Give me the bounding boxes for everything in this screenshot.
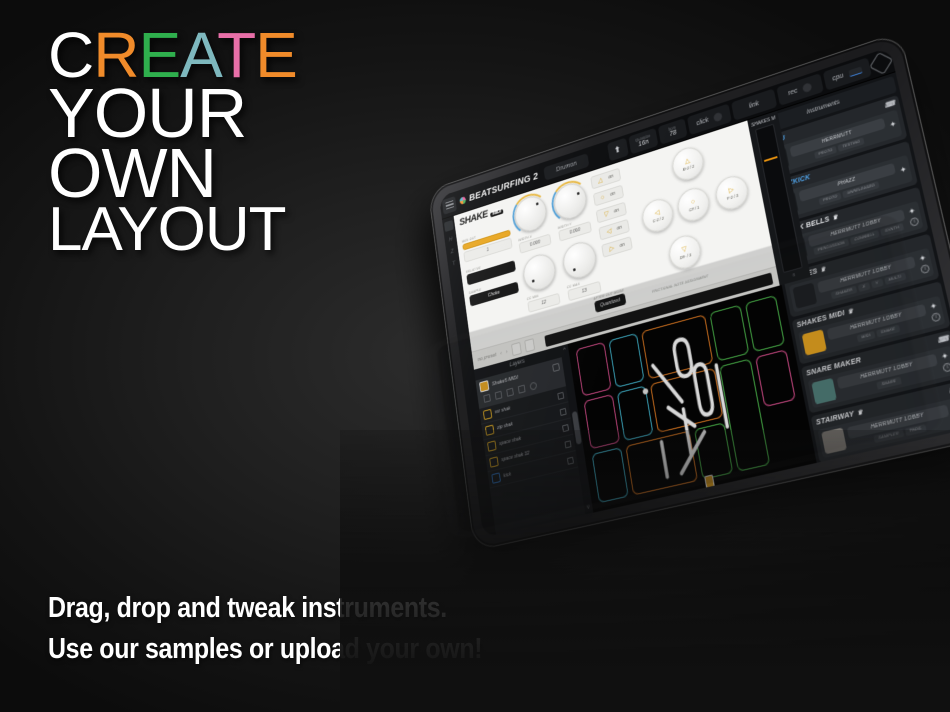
instrument-tags: SAMPLERPADS	[849, 418, 950, 448]
layer-edit-icon[interactable]	[557, 391, 564, 399]
wip-icon[interactable]: ✦	[889, 120, 898, 130]
instrument-author: HERRMUTT LOBBY	[808, 209, 905, 247]
instrument-author: HERRMUTT LOBBY	[837, 353, 938, 389]
upload-icon[interactable]	[607, 138, 629, 162]
layer-edit-icon[interactable]	[562, 424, 569, 432]
cpu-label: cpu	[832, 72, 844, 82]
instrument-body: HERRMUTT LOBBYSNARE✦i	[808, 346, 950, 409]
round-pad-4[interactable]: ▽D#- / 3	[667, 232, 703, 273]
instrument-body: HERRMUTTPROTOTESTING✦	[762, 110, 902, 177]
save-icon[interactable]	[511, 342, 522, 356]
instrument-list: PERCU⌨HERRMUTTPROTOTESTING✦PHAZZKICKPHAZ…	[756, 95, 950, 463]
knob-cc-min[interactable]	[521, 250, 558, 293]
bpm-value: 78	[669, 129, 677, 138]
instrument-tag: PROTO	[819, 192, 842, 205]
instrument-tags: SNARE	[839, 367, 940, 398]
preset-name[interactable]: no preset	[477, 352, 496, 363]
instrument-body: HERRMUTT LOBBYSAMPLERPADS✦i	[818, 396, 950, 458]
instrument-body: HERRMUTT LOBBYSHAKERXYMULTI✦i	[789, 248, 934, 313]
diamond-icon[interactable]	[869, 52, 893, 74]
instrument-name: SHAKES	[787, 268, 818, 283]
delete-icon[interactable]	[506, 388, 514, 397]
instrument-tag: SAMPLER	[874, 429, 904, 443]
info-icon[interactable]: i	[909, 216, 919, 226]
instrument-title: PHONK BELLS♛	[778, 191, 917, 238]
round-pad-1[interactable]: ◁C-2 / 2	[640, 195, 676, 235]
wrench-icon[interactable]	[774, 192, 798, 218]
instrument-author: HERRMUTT LOBBY	[817, 256, 916, 293]
round-pad-3[interactable]: ▷F-2 / 3	[713, 172, 750, 213]
instrument-meta: HERRMUTT LOBBYSHAKERXYMULTI	[817, 256, 918, 302]
instrument-tag: MULTI	[884, 272, 906, 285]
shape-toggle-label: on	[610, 191, 616, 198]
pad-green-8[interactable]	[719, 359, 770, 472]
link-button[interactable]: link	[731, 89, 777, 121]
instrument-body: HERRMUTT LOBBYMIDISHAKE✦i	[798, 296, 945, 360]
shape-glyph-icon: ▽	[603, 210, 609, 218]
shape-toggle-label: on	[608, 174, 614, 181]
headline-line-3: OWN	[48, 143, 428, 203]
chevron-up-icon[interactable]: ^	[563, 347, 566, 353]
midi-port-icon[interactable]: ✦	[929, 301, 938, 311]
instrument-meta: HERRMUTT LOBBYPERCUSSIONCOWBELLSYNTH	[808, 209, 907, 256]
pad-orange-11[interactable]	[625, 431, 698, 496]
merge-icon[interactable]	[495, 391, 503, 400]
rail-label-t: T	[452, 261, 456, 267]
layer-swatch-icon[interactable]	[485, 425, 494, 436]
pad-cyan-1[interactable]	[608, 333, 645, 388]
pad-orange-2[interactable]	[641, 314, 713, 379]
tablet-device: BEATSURFING 2 Drumon Quantize 16n bpm 78	[429, 33, 950, 550]
rec-knob-icon[interactable]	[802, 82, 812, 93]
editor-logo-sub: MIDI	[490, 209, 504, 218]
instrument-author: HERRMUTT	[789, 117, 885, 157]
shape-toggle-label: on	[614, 207, 620, 214]
instrument-title: STAIRWAY♛⌨	[815, 385, 950, 427]
instrument-body: PHAZZPROTOUNRELEASED✦	[771, 155, 913, 222]
instrument-tag: UNRELEASED	[843, 180, 880, 197]
instrument-tags: SHAKERXYMULTI	[820, 269, 918, 302]
pad-glyph-icon: ▷	[728, 186, 734, 194]
shape-glyph-icon: ○	[600, 194, 605, 201]
layer-swatch-icon[interactable]	[483, 409, 492, 420]
instrument-tag: SYNTH	[880, 222, 904, 235]
grid-layer-chip[interactable]	[704, 474, 715, 488]
instrument-tag: SHAKE	[876, 324, 900, 337]
brand-logo-icon	[459, 196, 466, 205]
instruments-panel[interactable]: Instruments PERCU⌨HERRMUTTPROTOTESTING✦P…	[749, 72, 950, 463]
layer-swatch-icon[interactable]	[487, 440, 496, 451]
round-pad-2[interactable]: ○C# / 1	[675, 184, 711, 225]
instrument-tag: SNARE	[877, 376, 902, 389]
editor-logo-text: SHAKE	[459, 209, 489, 228]
pad-cyan-6[interactable]	[616, 385, 653, 441]
instrument-name: PHONK BELLS	[778, 216, 830, 238]
layer-edit-icon[interactable]	[560, 407, 567, 415]
fader-label: SHAKES M	[751, 115, 776, 128]
layer-swatch-icon[interactable]	[491, 472, 501, 483]
headline: CREATE YOUR OWN LAYOUT	[48, 28, 428, 257]
instrument-actions: ✦i	[940, 351, 950, 372]
visibility-icon[interactable]	[530, 381, 538, 390]
crown-icon: ♛	[847, 308, 854, 317]
info-icon[interactable]: i	[931, 311, 941, 321]
pad-note-label: C-2 / 2	[652, 215, 664, 223]
instrument-name: STAIRWAY	[815, 410, 854, 426]
edit-layer-icon[interactable]	[552, 362, 560, 371]
instrument-card-2[interactable]: PHONK BELLS♛HERRMUTT LOBBYPERCUSSIONCOWB…	[774, 187, 929, 272]
instrument-actions: ✦i	[907, 206, 919, 226]
instrument-card-3[interactable]: SHAKES♛HERRMUTT LOBBYSHAKERXYMULTI✦i	[783, 234, 940, 318]
rail-label-h: H	[449, 237, 453, 243]
knob-cc-max[interactable]	[561, 238, 599, 282]
instrument-author: PHAZZ	[798, 162, 896, 201]
volume-fader[interactable]	[755, 124, 803, 274]
instrument-tags: PROTOTESTING	[792, 130, 888, 166]
instrument-actions: ✦	[889, 120, 898, 130]
instrument-card-6[interactable]: STAIRWAY♛⌨HERRMUTT LOBBYSAMPLERPADS✦i	[811, 380, 950, 462]
instrument-card-1[interactable]: PHAZZKICKPHAZZPROTOUNRELEASED✦	[765, 141, 918, 226]
instrument-actions: ✦	[899, 165, 908, 175]
shape-toggle-label: on	[617, 225, 623, 232]
instrument-tag: PADS	[905, 424, 927, 436]
toolbar-spacer	[591, 153, 606, 158]
pad-green-4[interactable]	[744, 295, 785, 352]
instrument-actions: ✦i	[918, 253, 931, 274]
add-layer-icon[interactable]	[483, 394, 491, 403]
stairs-icon[interactable]	[821, 427, 847, 454]
chevron-right-icon[interactable]: ›	[506, 349, 508, 355]
headline-letter-5: E	[255, 19, 297, 91]
shape-glyph-icon: ▷	[609, 245, 615, 253]
wip-icon[interactable]: ✦	[899, 165, 908, 175]
instrument-tags: MIDISHAKE	[829, 317, 928, 349]
instrument-title: SHAKES♛	[787, 238, 927, 283]
pad-note-label: F-2 / 3	[726, 192, 738, 200]
pad-cyan-10[interactable]	[592, 447, 629, 503]
shape-glyph-icon: ◁	[606, 228, 612, 236]
layer-edit-icon[interactable]	[564, 440, 571, 448]
shape-toggle-group: △on○on▽on◁on▷on	[590, 168, 633, 258]
crown-icon: ♛	[832, 214, 839, 222]
click-knob-icon[interactable]	[713, 111, 723, 122]
instrument-tag: X	[858, 282, 870, 292]
rail-label-z: Z	[451, 249, 455, 255]
instrument-tag: Y	[871, 278, 883, 288]
app-body: H Z T SHAKE	[442, 72, 950, 537]
pad-green-12[interactable]	[694, 422, 734, 480]
instrument-meta: HERRMUTT LOBBYSNARE	[837, 353, 940, 398]
layer-edit-icon[interactable]	[567, 456, 574, 464]
subtext-line-2: Use our samples or upload your own!	[48, 629, 530, 670]
instrument-name: SHAKES MIDI	[796, 310, 845, 330]
instrument-meta: HERRMUTT LOBBYMIDISHAKE	[827, 303, 929, 348]
instrument-name: PHAZZKICK	[769, 174, 811, 193]
instrument-card-0[interactable]: PERCU⌨HERRMUTTPROTOTESTING✦	[756, 95, 907, 182]
instrument-author: HERRMUTT LOBBY	[847, 404, 950, 439]
crown-icon: ♛	[820, 266, 827, 274]
click-label: click	[696, 116, 709, 126]
instrument-tag: COWBELL	[850, 229, 880, 244]
keyboard-icon[interactable]: ⌨	[937, 334, 950, 345]
pad-note-label: D-2 / 2	[682, 163, 694, 171]
midi-icon[interactable]	[802, 329, 827, 355]
instruments-header: Instruments	[752, 76, 896, 137]
info-icon[interactable]: i	[942, 362, 950, 373]
instrument-card-5[interactable]: SNARE MAKER⌨HERRMUTT LOBBYSNARE✦i	[801, 330, 950, 414]
crown-icon: ♛	[856, 408, 863, 417]
headline-line-4: LAYOUT	[48, 203, 428, 256]
info-icon[interactable]: i	[920, 263, 930, 273]
instrument-meta: HERRMUTT LOBBYSAMPLERPADS	[847, 404, 950, 448]
rec-label: rec	[788, 87, 799, 96]
trash-icon[interactable]	[524, 338, 535, 352]
instrument-tags: PERCUSSIONCOWBELLSYNTH	[810, 222, 907, 256]
gesture-dot	[642, 387, 648, 394]
master-fader-column: SHAKES M 0	[747, 111, 810, 286]
instrument-name: SNARE MAKER	[806, 356, 862, 377]
shape-toggle-label: on	[619, 242, 625, 249]
instrument-tag: MIDI	[857, 330, 876, 342]
instrument-meta: HERRMUTTPROTOTESTING	[789, 117, 887, 165]
tablet-screen: BEATSURFING 2 Drumon Quantize 16n bpm 78	[439, 47, 950, 537]
pad-pink-9[interactable]	[755, 349, 796, 407]
joystick-icon[interactable]: ✦	[918, 253, 927, 263]
duplicate-icon[interactable]	[518, 385, 526, 394]
pad-note-label: C# / 1	[689, 204, 700, 212]
knob-width-x[interactable]	[513, 192, 549, 235]
bells-icon[interactable]	[783, 237, 807, 263]
keyboard-icon[interactable]: ⌨	[884, 99, 896, 110]
cpu-bar-icon	[848, 66, 862, 77]
instrument-title: PHAZZKICK	[769, 145, 906, 193]
instrument-tags: PROTOUNRELEASED	[801, 175, 898, 210]
pad-orange-7[interactable]	[650, 368, 723, 433]
instrument-meta: PHAZZPROTOUNRELEASED	[798, 162, 898, 210]
instrument-actions: ✦i	[928, 301, 941, 322]
hamburger-icon[interactable]	[442, 196, 457, 215]
instrument-name: PERCU	[760, 134, 785, 148]
rail-grid-icon[interactable]	[444, 220, 454, 232]
pad-pink-0[interactable]	[576, 342, 612, 397]
cpu-meter[interactable]: cpu	[823, 57, 872, 90]
drum-icon[interactable]: ✦	[940, 351, 949, 361]
instrument-tag: TESTING	[838, 137, 865, 152]
instrument-card-4[interactable]: SHAKES MIDI♛HERRMUTT LOBBYMIDISHAKE✦i	[792, 281, 950, 364]
instrument-title: SNARE MAKER⌨	[806, 334, 950, 378]
instrument-title: SHAKES MIDI♛	[796, 285, 938, 329]
instrument-author: HERRMUTT LOBBY	[827, 303, 927, 339]
fader-value: 0	[792, 272, 795, 278]
pad-green-3[interactable]	[709, 305, 749, 362]
tablet-frame: BEATSURFING 2 Drumon Quantize 16n bpm 78	[429, 33, 950, 550]
shape-toggle-4[interactable]: ▷on	[601, 236, 633, 258]
instrument-tag: PERCUSSION	[813, 238, 849, 255]
instrument-tag: SHAKER	[831, 285, 857, 299]
pad-icon[interactable]	[792, 283, 817, 309]
phonk-bells-icon[interactable]: ✦	[908, 206, 917, 216]
wrench-icon[interactable]	[766, 147, 790, 173]
shape-glyph-icon: △	[597, 177, 603, 185]
instrument-title: PERCU⌨	[760, 99, 896, 149]
round-pad-0[interactable]: △D-2 / 2	[670, 143, 706, 184]
fader-handle[interactable]	[764, 156, 778, 162]
field-label-note-assignment: FRICTIONAL NOTE ASSIGNMENT	[652, 274, 709, 294]
snare-icon[interactable]	[811, 378, 836, 405]
tablet-stage: BEATSURFING 2 Drumon Quantize 16n bpm 78	[380, 60, 950, 620]
knob-width-y[interactable]	[552, 179, 589, 223]
chevron-left-icon[interactable]: ‹	[500, 350, 502, 356]
rec-button[interactable]: rec	[776, 73, 824, 106]
layer-swatch-icon[interactable]	[489, 456, 499, 467]
chevron-down-icon[interactable]: v	[587, 504, 591, 511]
instrument-body: HERRMUTT LOBBYPERCUSSIONCOWBELLSYNTH✦i	[780, 201, 924, 267]
pad-note-label: D#- / 3	[679, 252, 691, 260]
pad-pink-5[interactable]	[584, 394, 620, 449]
instrument-tag: PROTO	[814, 145, 837, 158]
link-label: link	[748, 100, 759, 110]
